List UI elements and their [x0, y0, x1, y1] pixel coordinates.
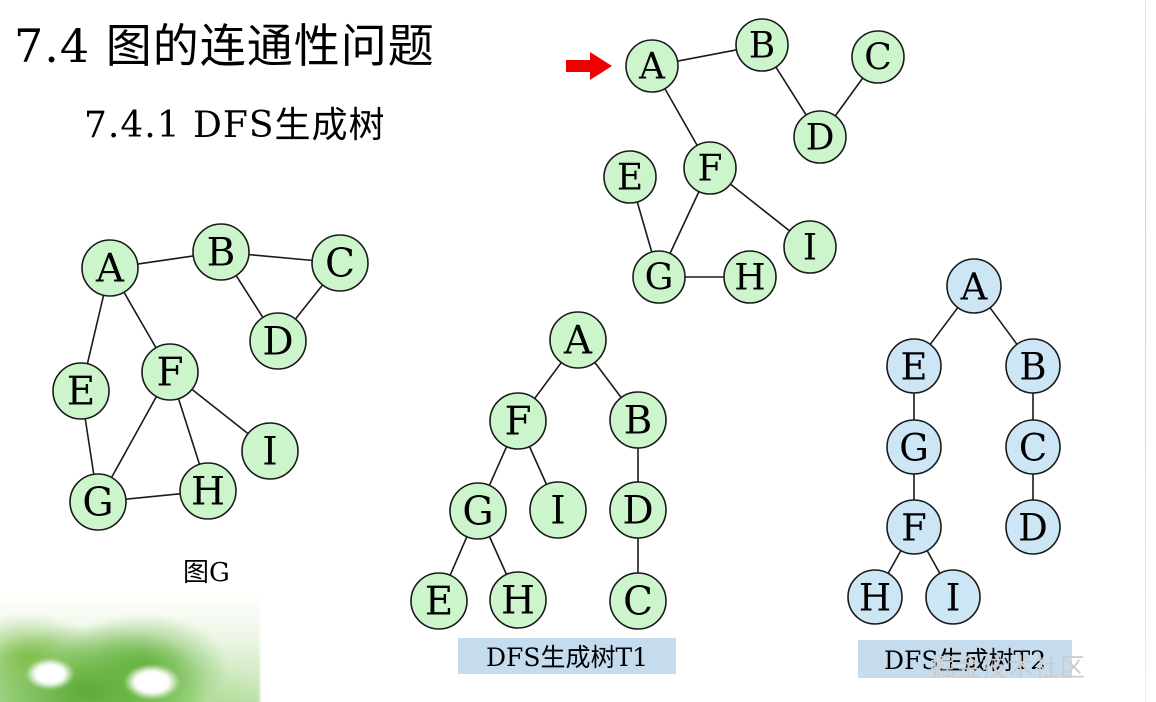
graph-edge	[670, 191, 700, 255]
tree-t1-node-c[interactable]: C	[610, 573, 666, 629]
graph-top-node-f[interactable]: F	[684, 142, 736, 194]
node-label: I	[262, 430, 277, 475]
graph-g-node-f[interactable]: F	[142, 344, 198, 400]
tree-t1-nodes: AFBGIDEHC	[411, 312, 666, 629]
graph-g-node-c[interactable]: C	[312, 235, 368, 291]
tree-t2-node-e[interactable]: E	[887, 339, 941, 393]
tree-t2-node-i[interactable]: I	[926, 570, 980, 624]
tree-t2-node-b[interactable]: B	[1006, 339, 1060, 393]
graph-edge	[111, 396, 157, 479]
node-label: C	[1019, 427, 1047, 470]
tree-t1-node-b[interactable]: B	[610, 392, 666, 448]
tree-t1-node-i[interactable]: I	[530, 482, 586, 538]
graph-edge	[529, 446, 547, 486]
tree-t2-node-f[interactable]: F	[887, 500, 941, 554]
node-label: A	[563, 319, 593, 364]
node-label: D	[622, 489, 653, 534]
graph-edge	[137, 256, 195, 264]
graph-edge	[989, 307, 1017, 345]
node-label: D	[1018, 507, 1048, 550]
node-label: G	[82, 481, 113, 526]
tree-t1-node-h[interactable]: H	[490, 572, 546, 628]
node-label: E	[67, 370, 95, 415]
graph-edge	[489, 536, 507, 576]
tree-t1-node-g[interactable]: G	[450, 483, 506, 539]
node-label: F	[156, 351, 183, 396]
node-label: A	[95, 247, 125, 292]
graph-edge	[677, 50, 738, 62]
graph-edge	[730, 183, 791, 231]
node-label: E	[900, 346, 927, 389]
node-label: B	[1019, 346, 1046, 389]
graph-edge	[178, 398, 200, 466]
right-edge-rule	[1145, 0, 1146, 702]
graph-top-node-e[interactable]: E	[604, 151, 656, 203]
graph-g-node-b[interactable]: B	[193, 224, 249, 280]
graph-top-nodes: ABCDEFGHI	[604, 19, 904, 303]
graph-edge	[191, 389, 249, 435]
graph-edge	[594, 362, 622, 399]
graph-edge	[87, 294, 104, 364]
graph-edge	[888, 550, 902, 575]
node-label: H	[191, 470, 225, 515]
node-label: A	[638, 47, 666, 88]
graph-g-node-a[interactable]: A	[82, 240, 138, 296]
graph-edge	[123, 291, 156, 348]
node-label: D	[262, 320, 293, 365]
graph-top-node-i[interactable]: I	[784, 221, 836, 273]
node-label: F	[698, 149, 723, 190]
node-label: G	[899, 427, 929, 470]
graph-edge	[775, 66, 806, 116]
node-label: B	[624, 399, 653, 444]
tree-t2-node-d[interactable]: D	[1006, 500, 1060, 554]
graph-edge	[930, 307, 959, 345]
graph-edge	[295, 284, 323, 320]
tree-t2-node-h[interactable]: H	[848, 570, 902, 624]
graph-top-node-c[interactable]: C	[852, 31, 904, 83]
graph-edge	[450, 536, 468, 576]
page-title: 7.4 图的连通性问题	[14, 10, 435, 76]
graph-edge	[489, 446, 507, 487]
node-label: I	[946, 577, 961, 620]
graph-g-node-i[interactable]: I	[242, 423, 298, 479]
node-label: F	[901, 507, 927, 550]
graph-top-node-h[interactable]: H	[724, 251, 776, 303]
node-label: C	[325, 242, 355, 287]
graph-edge	[664, 88, 697, 147]
node-label: B	[749, 26, 775, 67]
tree-t2-node-a[interactable]: A	[947, 259, 1001, 313]
graph-edge	[927, 550, 941, 575]
graph-top-node-b[interactable]: B	[736, 19, 788, 71]
node-label: I	[550, 489, 565, 534]
graph-edge	[835, 77, 864, 117]
tree-t2-node-g[interactable]: G	[887, 420, 941, 474]
node-label: A	[960, 266, 989, 309]
graph-g-node-e[interactable]: E	[53, 363, 109, 419]
graph-g-node-d[interactable]: D	[250, 313, 306, 369]
graph-edge	[637, 201, 652, 253]
node-label: G	[645, 258, 674, 299]
tree-t1-node-d[interactable]: D	[610, 482, 666, 538]
red-arrow-icon	[566, 52, 612, 80]
tree-t1-node-e[interactable]: E	[411, 573, 467, 629]
node-label: I	[803, 228, 817, 269]
tree-t1-node-a[interactable]: A	[550, 312, 606, 368]
graph-g-node-h[interactable]: H	[180, 463, 236, 519]
graph-g-nodes: ABCDEFGHI	[53, 224, 368, 530]
graph-g-caption: 图G	[183, 552, 230, 589]
node-label: D	[806, 118, 835, 159]
graph-top-node-d[interactable]: D	[794, 111, 846, 163]
graph-edge	[236, 275, 264, 319]
watermark-text: 掘金技术社区	[930, 648, 1086, 684]
node-label: F	[504, 400, 531, 445]
node-label: E	[425, 580, 453, 625]
tree-t1-caption: DFS生成树T1	[458, 638, 676, 674]
slide-canvas: 7.4 图的连通性问题 7.4.1 DFS生成树 ABCDEFGHI ABCDE…	[0, 0, 1156, 702]
graph-top-node-g[interactable]: G	[633, 251, 685, 303]
node-label: G	[462, 490, 493, 535]
page-subtitle: 7.4.1 DFS生成树	[84, 96, 386, 148]
node-label: C	[864, 38, 892, 79]
node-label: H	[734, 258, 765, 299]
tree-t1-node-f[interactable]: F	[490, 393, 546, 449]
node-label: H	[859, 577, 891, 620]
graph-edge	[125, 494, 181, 500]
graph-edge	[248, 254, 313, 260]
tree-t2-node-c[interactable]: C	[1006, 420, 1060, 474]
node-label: C	[623, 580, 653, 625]
graph-g-node-g[interactable]: G	[70, 474, 126, 530]
node-label: H	[501, 579, 535, 624]
node-label: B	[207, 231, 236, 276]
graph-edge	[534, 362, 562, 400]
node-label: E	[617, 158, 643, 199]
graph-top-node-a[interactable]: A	[626, 40, 678, 92]
tree-t1-edges	[450, 362, 638, 577]
graph-edge	[85, 418, 94, 476]
